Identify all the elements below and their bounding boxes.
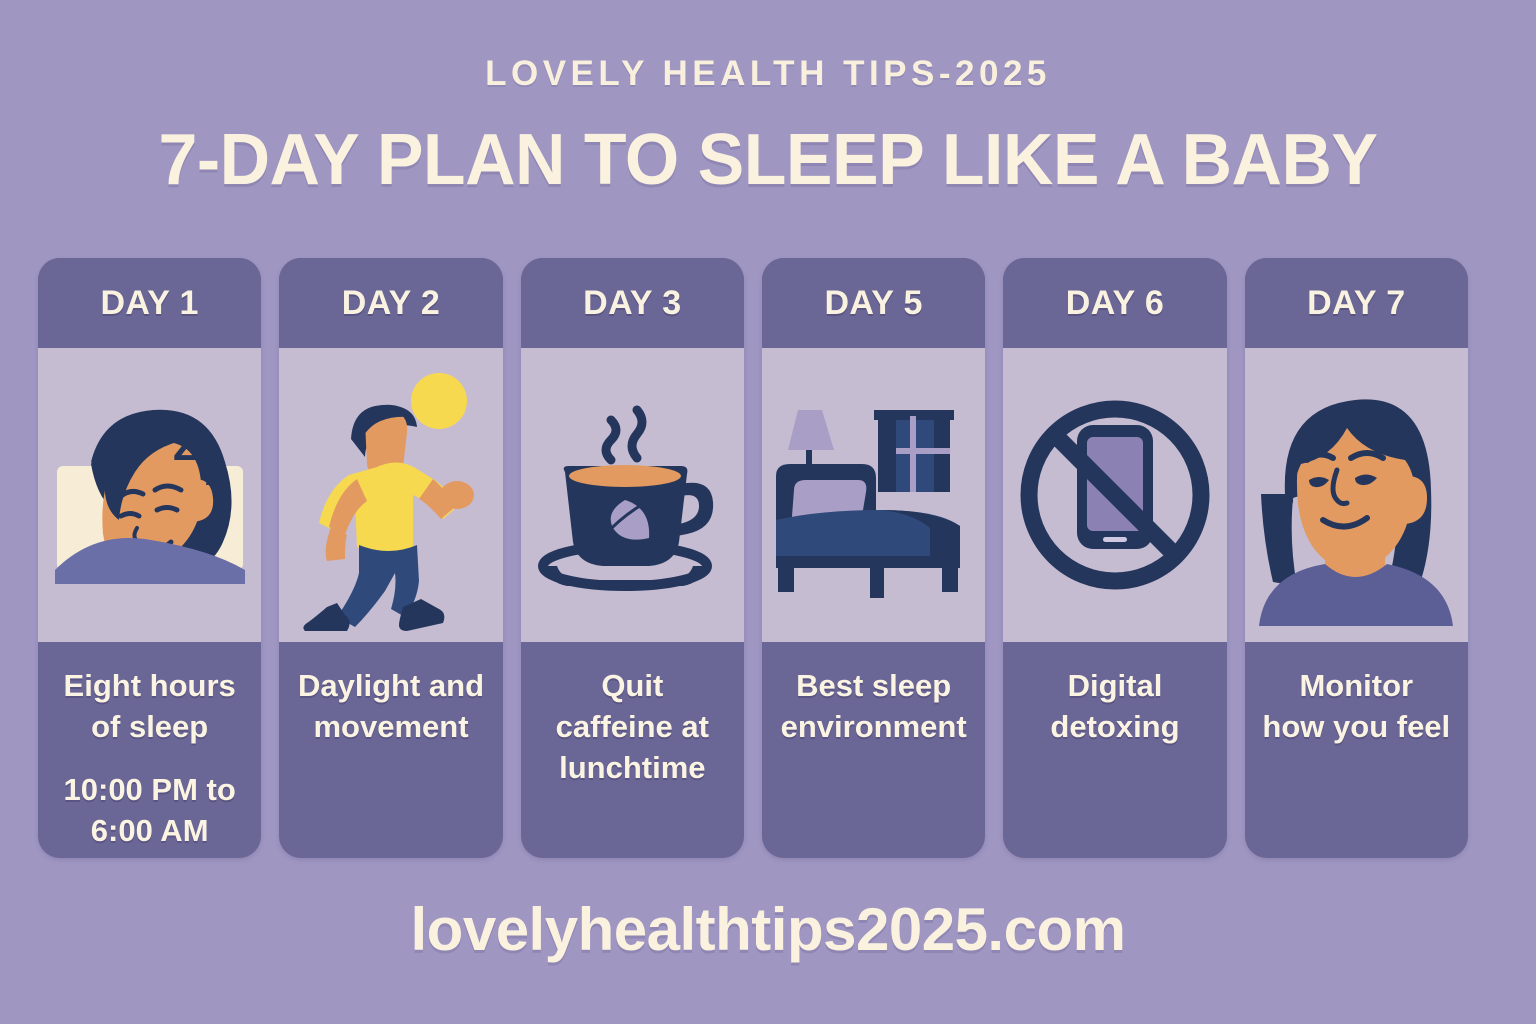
day-card-1-artwork: Z z (38, 348, 261, 642)
poster-kicker: LOVELY HEALTH TIPS-2025 (0, 54, 1536, 94)
bedroom-bed-lamp-window-icon (766, 378, 981, 613)
day-card-6-label: DAY 6 (1066, 284, 1164, 323)
day-card-6-caption-line1: Digital (1017, 666, 1212, 707)
day-card-3[interactable]: DAY 3 Quit caffeine at lunchtim (521, 258, 744, 858)
day-card-3-caption-line3: lunchtime (535, 748, 730, 789)
day-card-6-caption: Digital detoxing (1003, 642, 1226, 858)
smiling-woman-portrait-icon (1251, 364, 1461, 626)
day-card-1-caption-line1: Eight hours (52, 666, 247, 707)
day-card-7[interactable]: DAY 7 Monitor (1245, 258, 1468, 858)
day-card-5[interactable]: DAY 5 (762, 258, 985, 858)
day-card-2-artwork (279, 348, 502, 642)
day-card-2-header: DAY 2 (279, 258, 502, 348)
day-card-3-header: DAY 3 (521, 258, 744, 348)
day-card-3-label: DAY 3 (583, 284, 681, 323)
day-card-7-header: DAY 7 (1245, 258, 1468, 348)
day-card-5-label: DAY 5 (824, 284, 922, 323)
no-phone-icon (1011, 391, 1219, 599)
day-card-7-caption-line1: Monitor (1259, 666, 1454, 707)
day-card-1-caption-line2: of sleep (52, 707, 247, 748)
day-card-6-artwork (1003, 348, 1226, 642)
day-card-5-caption: Best sleep environment (762, 642, 985, 858)
tea-cup-icon (525, 388, 740, 603)
window-icon (874, 410, 954, 492)
day-card-2-label: DAY 2 (342, 284, 440, 323)
day-card-7-artwork (1245, 348, 1468, 642)
day-card-7-label: DAY 7 (1307, 284, 1405, 323)
day-card-2-caption-line1: Daylight and (293, 666, 488, 707)
day-card-3-caption-line1: Quit (535, 666, 730, 707)
day-card-1-sub-line1: 10:00 PM to (52, 770, 247, 811)
day-card-1-header: DAY 1 (38, 258, 261, 348)
day-card-3-artwork (521, 348, 744, 642)
day-card-7-caption: Monitor how you feel (1245, 642, 1468, 858)
day-card-3-caption: Quit caffeine at lunchtime (521, 642, 744, 858)
day-card-7-caption-line2: how you feel (1259, 707, 1454, 748)
day-cards-row: DAY 1 Z (38, 258, 1468, 858)
day-card-1[interactable]: DAY 1 Z (38, 258, 261, 858)
day-card-2[interactable]: DAY 2 Daylight (279, 258, 502, 858)
day-card-5-caption-line2: environment (776, 707, 971, 748)
poster-headline: 7-DAY PLAN TO SLEEP LIKE A BABY (23, 124, 1513, 196)
day-card-5-artwork (762, 348, 985, 642)
day-card-1-sub-line2: 6:00 AM (52, 811, 247, 852)
day-card-6[interactable]: DAY 6 Digital detoxing (1003, 258, 1226, 858)
footer-website-url[interactable]: lovelyhealthtips2025.com (0, 895, 1536, 964)
day-card-1-caption: Eight hours of sleep 10:00 PM to 6:00 AM (38, 642, 261, 858)
day-card-2-caption-line2: movement (293, 707, 488, 748)
day-card-2-caption: Daylight and movement (279, 642, 502, 858)
sun-icon (411, 373, 467, 429)
day-card-6-header: DAY 6 (1003, 258, 1226, 348)
svg-text:Z: Z (173, 421, 200, 470)
infographic-poster: LOVELY HEALTH TIPS-2025 7-DAY PLAN TO SL… (0, 0, 1536, 1024)
svg-text:z: z (205, 459, 220, 492)
day-card-5-header: DAY 5 (762, 258, 985, 348)
day-card-5-caption-line1: Best sleep (776, 666, 971, 707)
day-card-3-caption-line2: caffeine at (535, 707, 730, 748)
day-card-6-caption-line2: detoxing (1017, 707, 1212, 748)
walking-person-sun-icon (291, 359, 491, 631)
sleeping-woman-icon: Z z (45, 370, 255, 620)
day-card-1-label: DAY 1 (100, 284, 198, 323)
